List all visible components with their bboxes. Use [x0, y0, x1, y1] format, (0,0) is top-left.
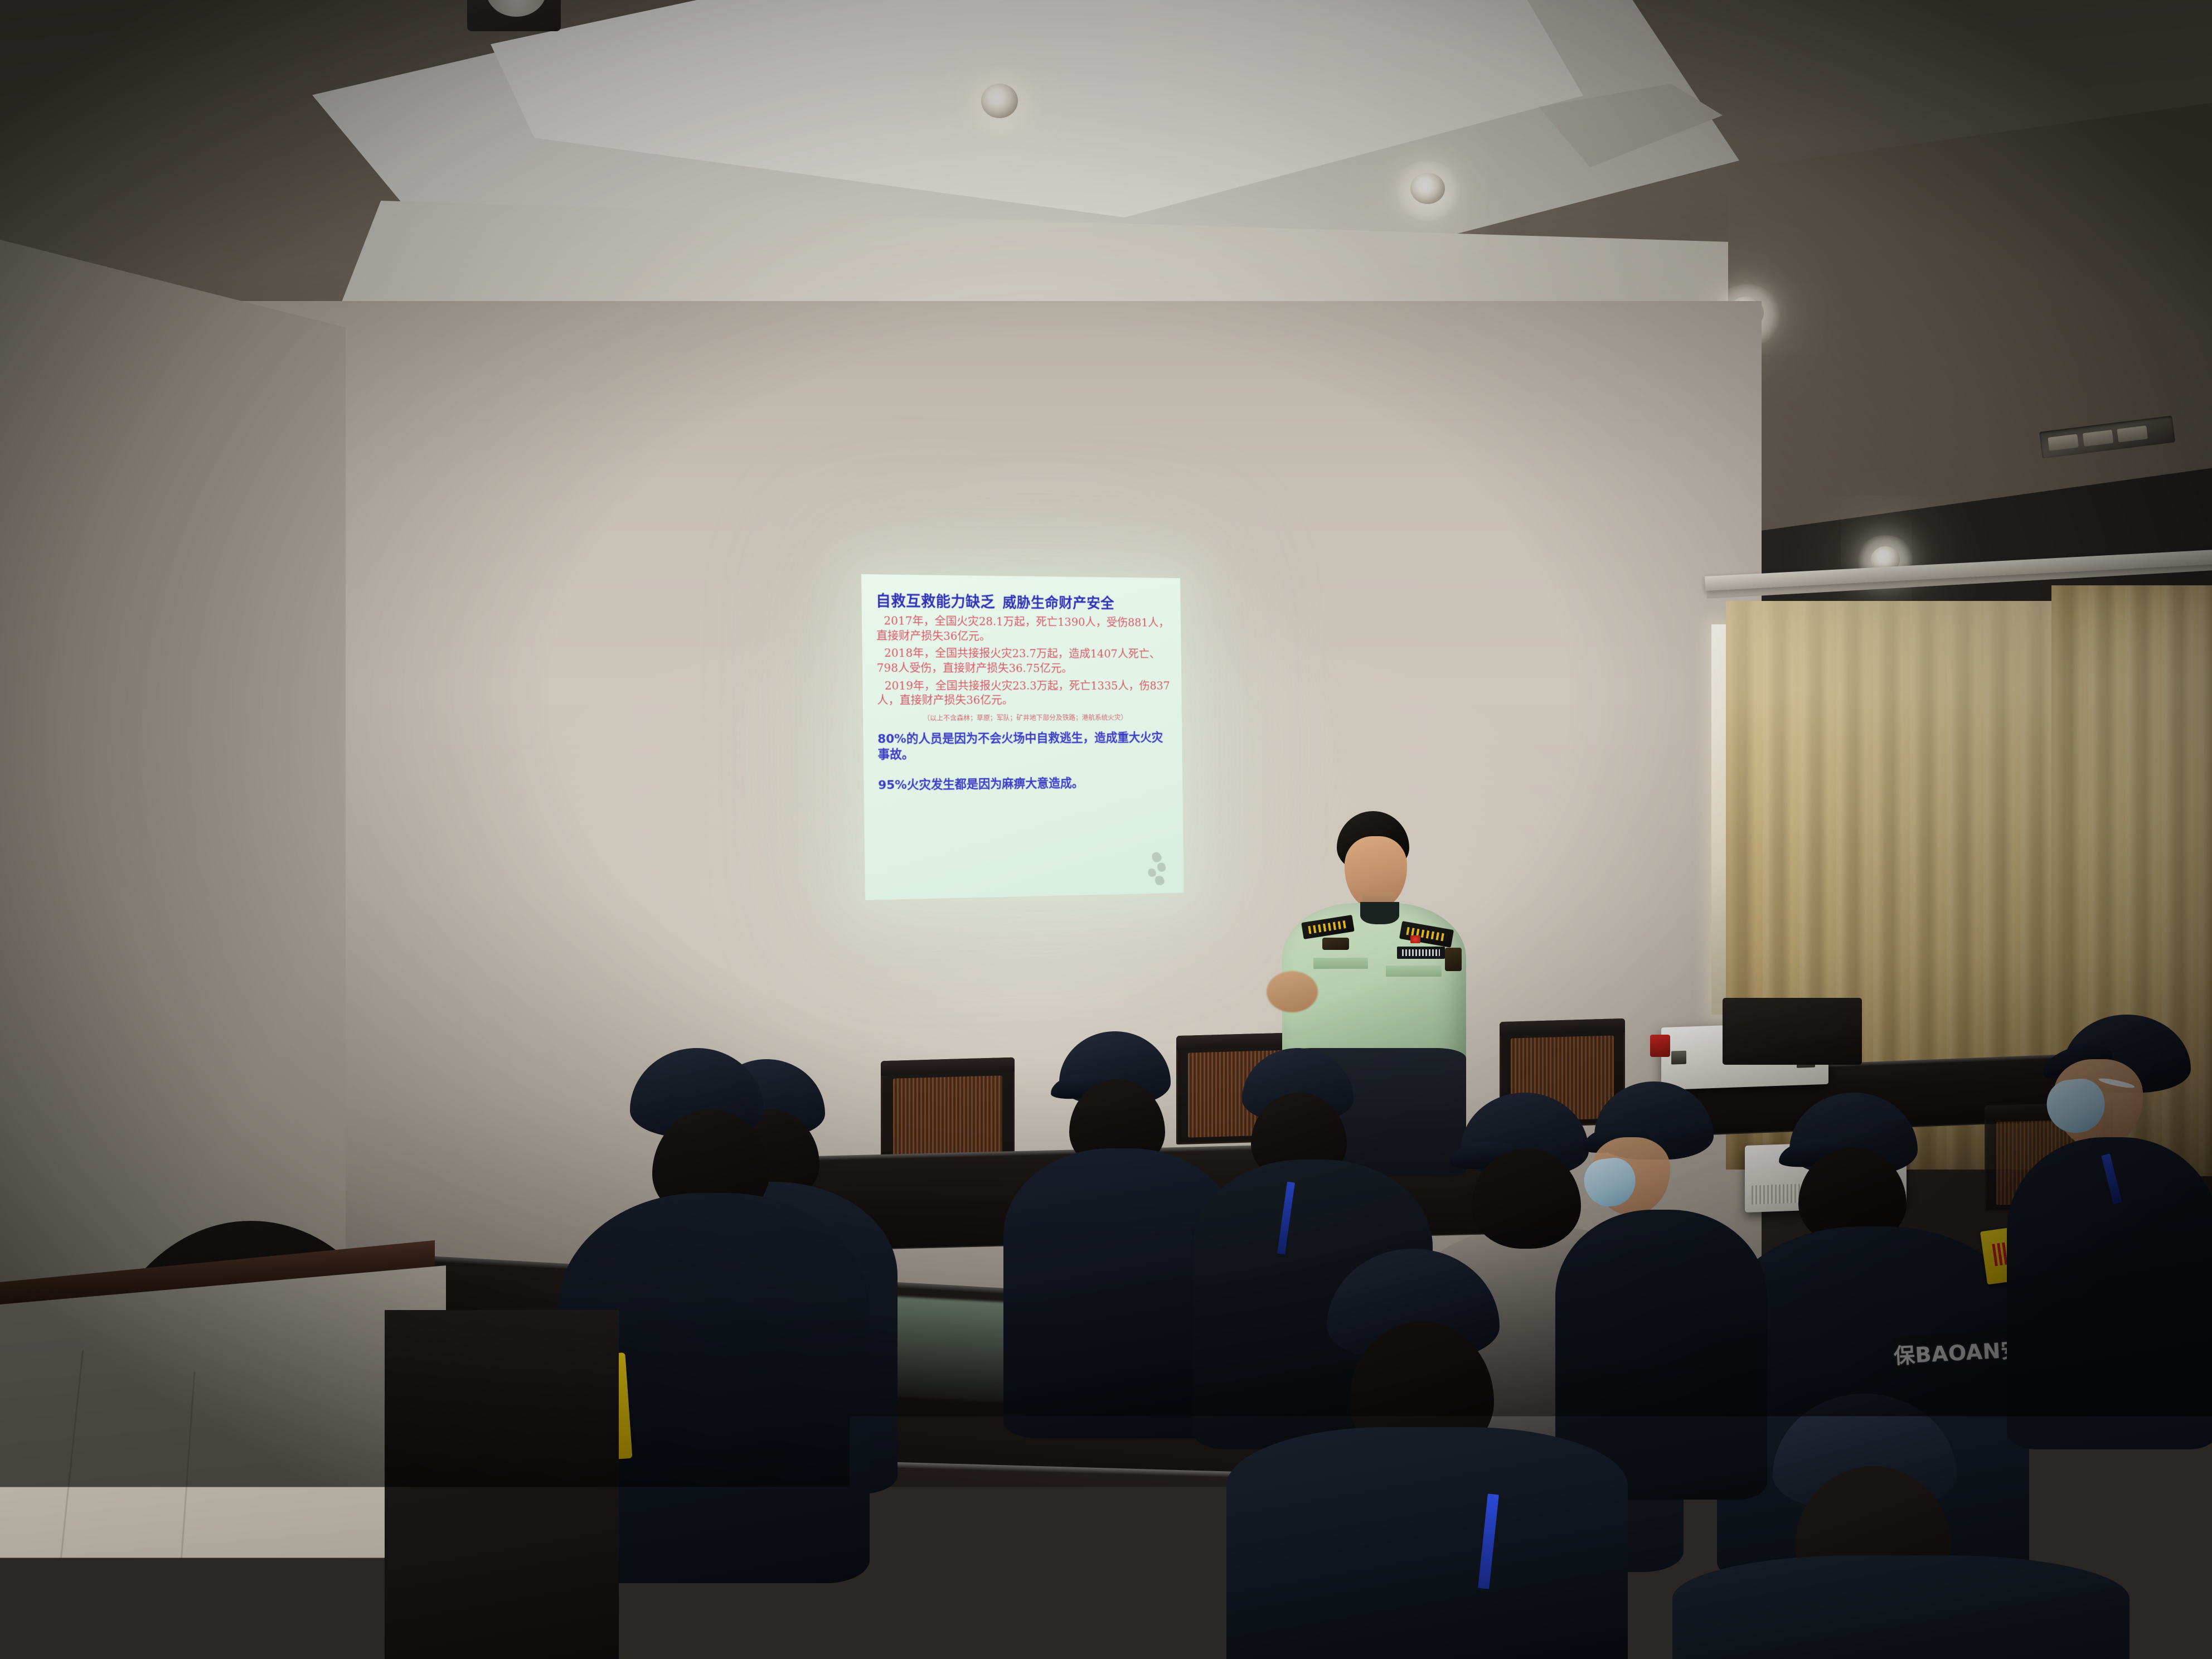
presenter-chest-emblem	[1322, 938, 1349, 950]
slide-content: 自救互救能力缺乏 威胁生命财产安全 2017年，全国火灾28.1万起，死亡139…	[861, 574, 1184, 900]
presenter-collar	[1360, 902, 1399, 924]
projection-screen: 自救互救能力缺乏 威胁生命财产安全 2017年，全国火灾28.1万起，死亡139…	[861, 574, 1184, 900]
presenter-pocket-left	[1313, 958, 1368, 969]
presenter-flag-pin	[1410, 935, 1420, 943]
presenter-sleeve-patch	[1445, 948, 1462, 971]
case-handle-icon	[1650, 1035, 1670, 1057]
slide-stat-2019: 2019年，全国共接报火灾23.3万起，死亡1335人，伤837人，直接财产损失…	[877, 678, 1171, 708]
guard-back-label: 保BAOAN安	[1893, 1330, 2024, 1371]
downlight-icon	[981, 84, 1018, 118]
slide-footnote: （以上不含森林；草原；军队；矿井地下部分及铁路；港航系统火灾）	[877, 712, 1171, 722]
slide-stat-2017: 2017年，全国火灾28.1万起，死亡1390人，受伤881人，直接财产损失36…	[876, 613, 1170, 644]
presenter-hand	[1267, 971, 1318, 1012]
slide-conclusion-1: 80%的人员是因为不会火场中自救逃生，造成重大火灾事故。	[877, 730, 1171, 763]
slide-conclusion-2-pct: 95%	[878, 778, 907, 792]
ceiling-right-slope	[1728, 100, 2212, 535]
slide-conclusion-1-text: 的人员是因为不会火场中自救逃生，造成重大火灾事故。	[877, 730, 1163, 761]
window-light-slit	[1711, 624, 1726, 1015]
downlight-icon	[1410, 173, 1445, 204]
presenter-name-tag	[1397, 947, 1445, 959]
foreground-shadow	[0, 1505, 2212, 1659]
slide-headline-right: 威胁生命财产安全	[1002, 591, 1114, 613]
slide-stat-2018: 2018年，全国共接报火灾23.7万起，造成1407人死亡、798人受伤，直接财…	[876, 646, 1170, 676]
slide-conclusion-2-text: 火灾发生都是因为麻痹大意造成。	[907, 776, 1084, 792]
slide-conclusion-2: 95%火灾发生都是因为麻痹大意造成。	[878, 775, 1171, 794]
training-room-photo: 自救互救能力缺乏 威胁生命财产安全 2017年，全国火灾28.1万起，死亡139…	[0, 0, 2212, 1659]
slide-watermark-icon	[1143, 850, 1176, 889]
slide-conclusion-1-pct: 80%	[877, 732, 906, 746]
slide-headline: 自救互救能力缺乏 威胁生命财产安全	[876, 589, 1170, 613]
presenter-pocket-right	[1386, 966, 1442, 977]
chair-back-far	[1723, 998, 1862, 1065]
slide-headline-left: 自救互救能力缺乏	[876, 589, 995, 612]
